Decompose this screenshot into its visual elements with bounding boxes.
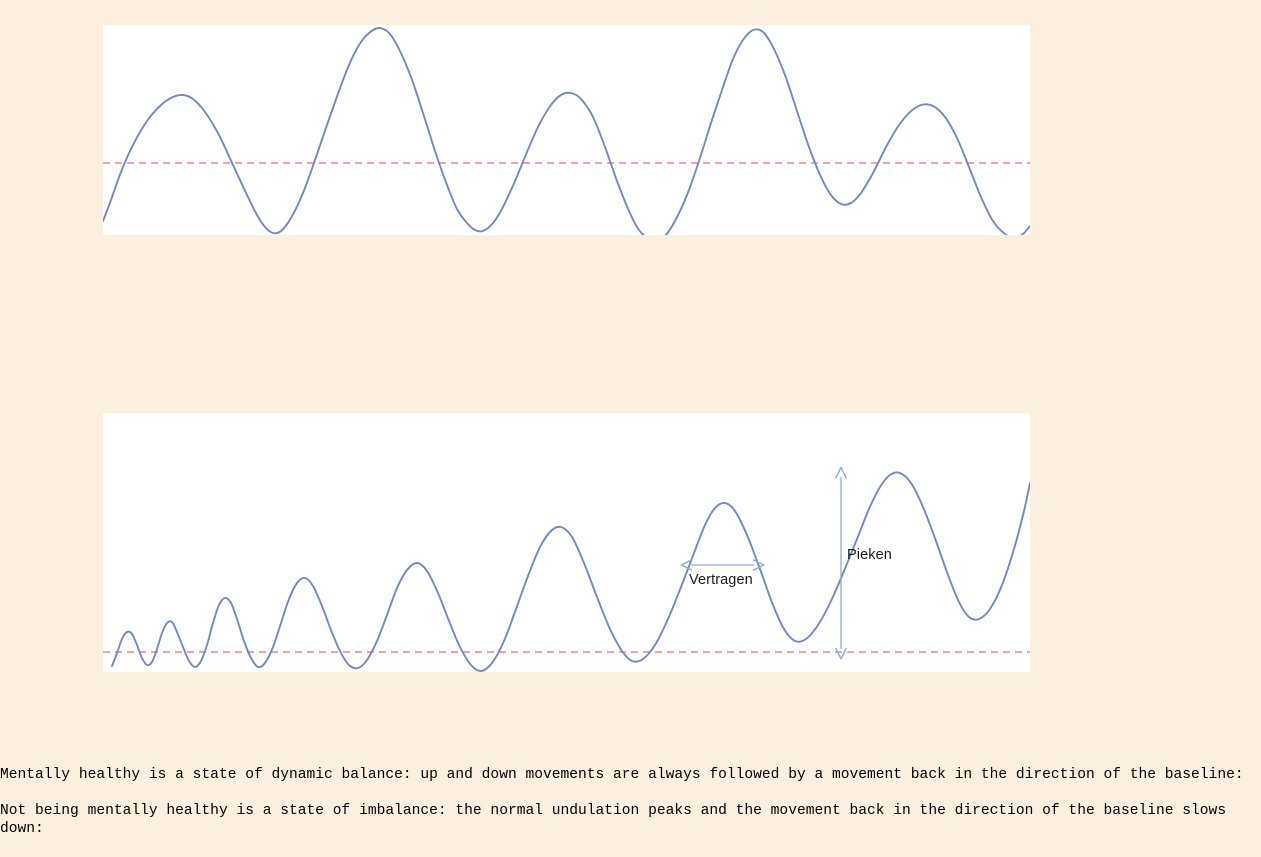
chart-dynamic-balance bbox=[103, 25, 1030, 235]
paragraph-spacer bbox=[0, 784, 1261, 802]
chart-imbalance bbox=[103, 413, 1030, 672]
annotation-label-pieken: Pieken bbox=[847, 547, 892, 563]
undulation-wave-path bbox=[112, 472, 1030, 671]
annotation-label-vertragen: Vertragen bbox=[689, 572, 753, 588]
paragraph-dynamic-balance: Mentally healthy is a state of dynamic b… bbox=[0, 766, 1261, 784]
undulation-wave-path bbox=[103, 28, 1030, 235]
paragraph-imbalance: Not being mentally healthy is a state of… bbox=[0, 802, 1261, 838]
dynamic-balance-wave-svg bbox=[103, 25, 1030, 235]
body-text-block: Mentally healthy is a state of dynamic b… bbox=[0, 766, 1261, 838]
slide-canvas: Vertragen Pieken Mentally healthy is a s… bbox=[0, 0, 1261, 857]
imbalance-wave-svg bbox=[103, 413, 1030, 672]
